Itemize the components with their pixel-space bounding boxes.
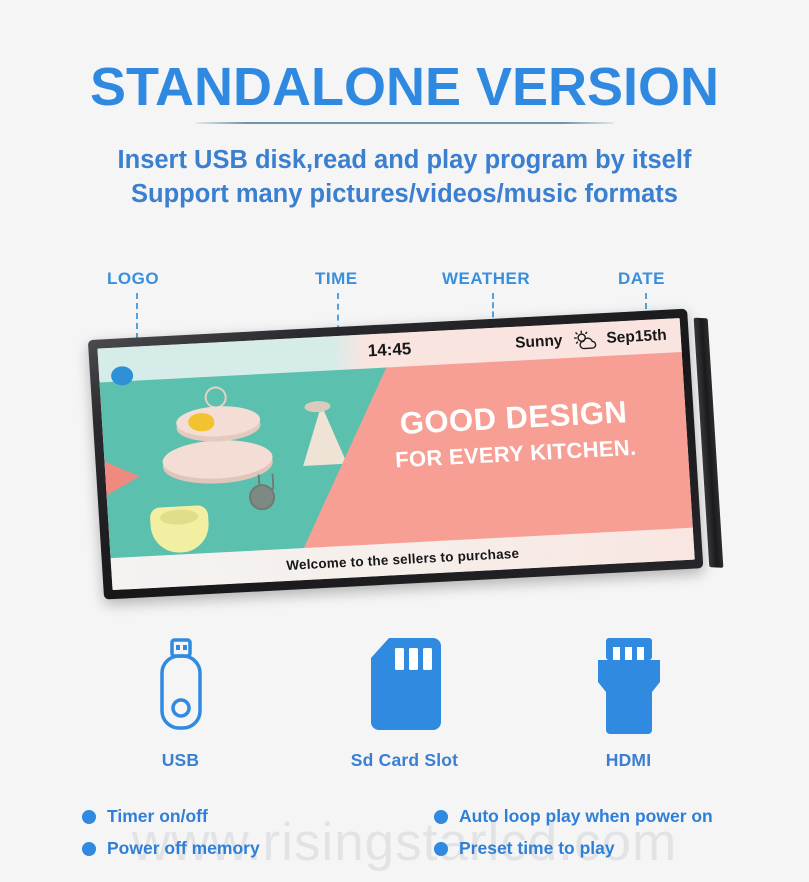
bullet-icon xyxy=(434,810,448,824)
status-time: 14:45 xyxy=(367,339,412,361)
feature-item-preset-time: Preset time to play xyxy=(434,838,782,859)
connector-usb: USB xyxy=(115,632,247,771)
sd-card-icon xyxy=(339,632,471,740)
feature-label: Timer on/off xyxy=(107,806,208,827)
status-weather-text: Sunny xyxy=(515,332,563,352)
feature-label: Auto loop play when power on xyxy=(459,806,713,827)
page-subtitle: Insert USB disk,read and play program by… xyxy=(0,143,809,211)
connector-sd-card: Sd Card Slot xyxy=(339,632,471,771)
cone-prop xyxy=(299,404,347,466)
subtitle-line-2: Support many pictures/videos/music forma… xyxy=(0,177,809,211)
connector-label-sd-card: Sd Card Slot xyxy=(339,750,471,771)
pink-wedge-prop xyxy=(99,451,141,506)
connector-label-hdmi: HDMI xyxy=(563,750,695,771)
usb-drive-icon xyxy=(115,632,247,740)
bullet-icon xyxy=(82,810,96,824)
hdmi-connector-icon xyxy=(563,632,695,740)
connector-label-usb: USB xyxy=(115,750,247,771)
whisk-prop xyxy=(248,484,276,511)
feature-item-power-off-memory: Power off memory xyxy=(82,838,434,859)
page-title: STANDALONE VERSION xyxy=(0,56,809,118)
status-date: Sep15th xyxy=(606,327,667,348)
status-weather-group: Sunny xyxy=(515,326,668,354)
callout-label-time: TIME xyxy=(315,269,358,289)
connector-hdmi: HDMI xyxy=(563,632,695,771)
feature-list: Timer on/off Auto loop play when power o… xyxy=(82,806,782,859)
feature-label: Preset time to play xyxy=(459,838,615,859)
callout-label-date: DATE xyxy=(618,269,665,289)
content-headline: GOOD DESIGN FOR EVERY KITCHEN. xyxy=(363,394,667,475)
title-divider xyxy=(196,122,614,124)
subtitle-line-1: Insert USB disk,read and play program by… xyxy=(0,143,809,177)
display-screen: GOOD DESIGN FOR EVERY KITCHEN. 14:45 Sun… xyxy=(97,318,694,590)
connector-row: USB Sd Card Slot HDMI xyxy=(0,632,809,771)
sun-behind-cloud-icon xyxy=(571,329,598,350)
feature-item-auto-loop: Auto loop play when power on xyxy=(434,806,782,827)
callout-label-weather: WEATHER xyxy=(442,269,530,289)
feature-label: Power off memory xyxy=(107,838,260,859)
bar-lcd-display: GOOD DESIGN FOR EVERY KITCHEN. 14:45 Sun… xyxy=(88,318,708,603)
bullet-icon xyxy=(82,842,96,856)
feature-item-timer: Timer on/off xyxy=(82,806,434,827)
callout-label-logo: LOGO xyxy=(107,269,159,289)
bullet-icon xyxy=(434,842,448,856)
display-bezel: GOOD DESIGN FOR EVERY KITCHEN. 14:45 Sun… xyxy=(88,309,704,600)
